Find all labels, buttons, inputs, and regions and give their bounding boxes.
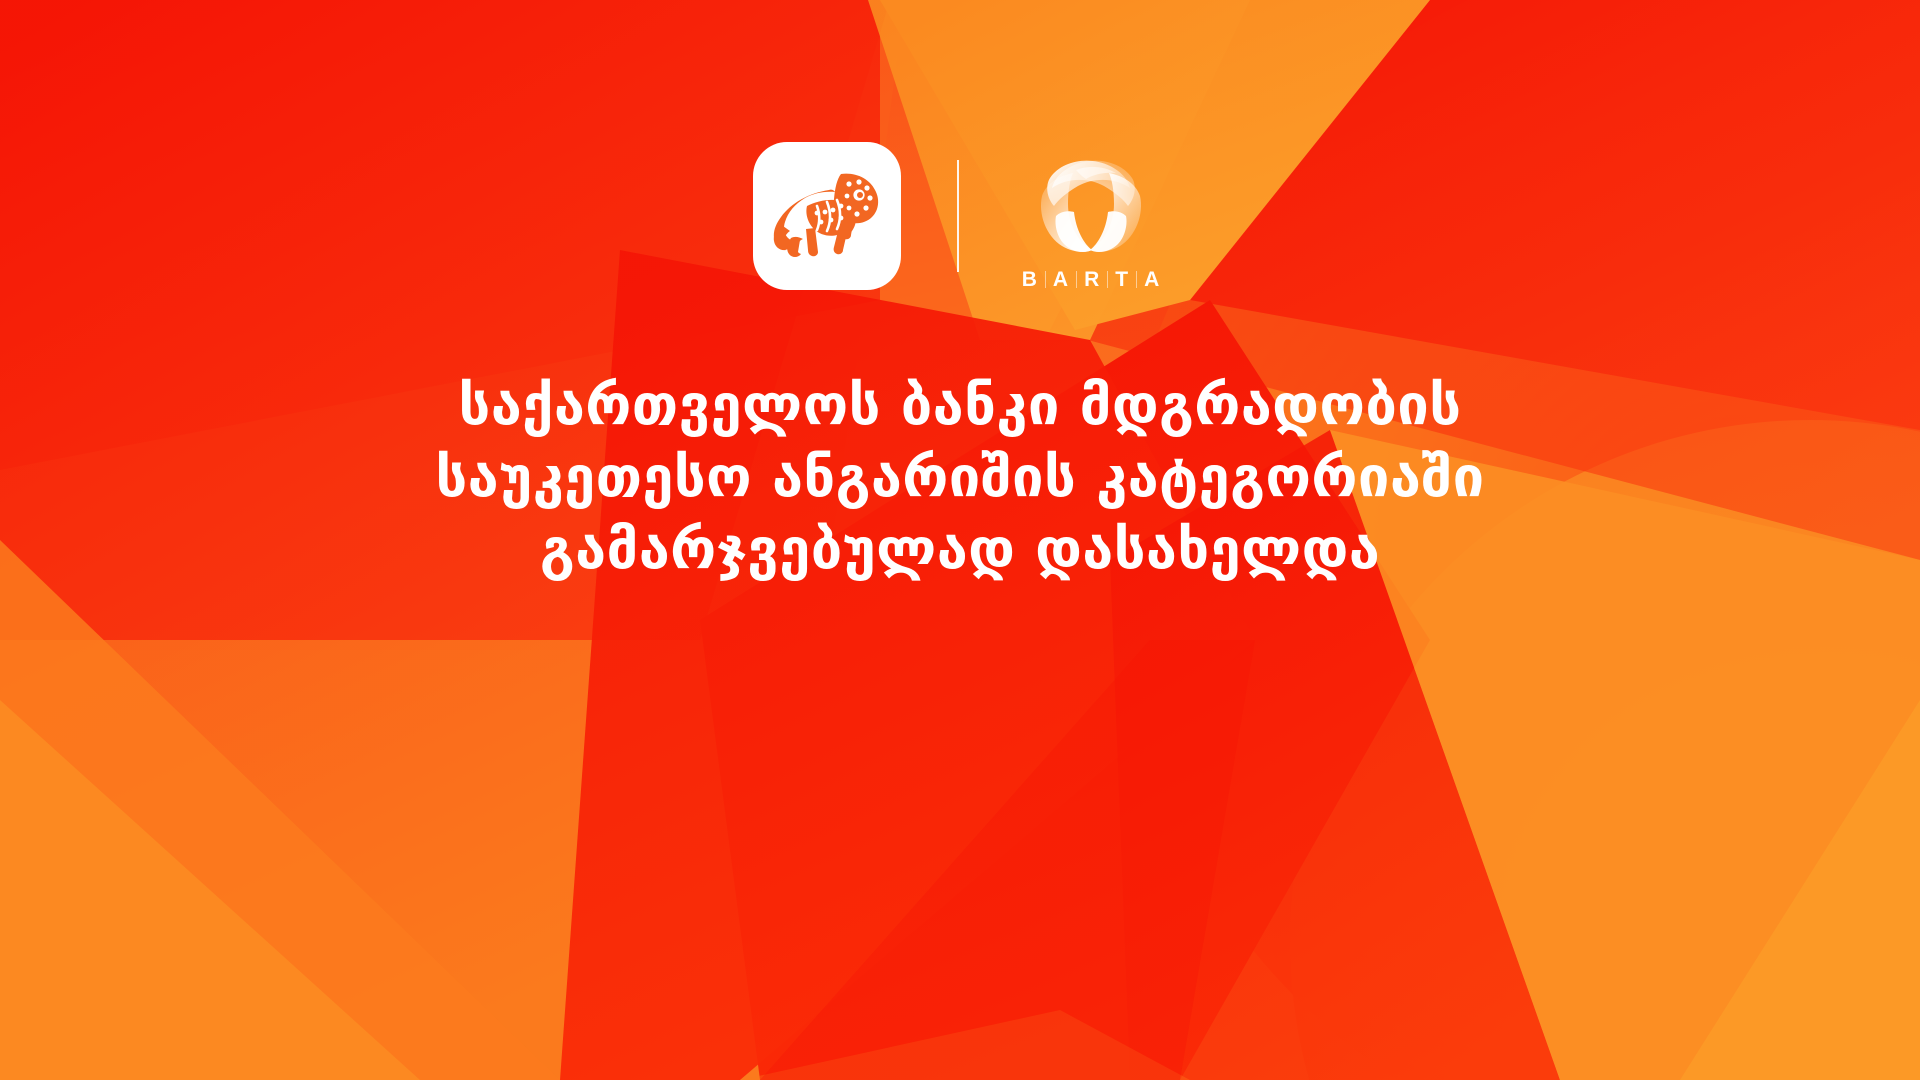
headline: საქართველოს ბანკი მდგრადობის საუკეთესო ა… [0, 370, 1920, 586]
barta-letter-3: R [1077, 269, 1107, 290]
barta-letter-2: A [1046, 269, 1076, 290]
barta-letter-1: B [1015, 269, 1045, 290]
bank-of-georgia-logo-tile [753, 142, 901, 290]
logo-lockup: B A R T A [0, 136, 1920, 296]
promo-banner: B A R T A საქართველოს ბანკი მდგრადობის ს… [0, 0, 1920, 1080]
barta-logo: B A R T A [1015, 142, 1168, 290]
barta-wordmark: B A R T A [1015, 269, 1168, 290]
lockup-divider-icon [957, 160, 959, 272]
headline-line-1: საქართველოს ბანკი მდგრადობის [90, 370, 1830, 442]
barta-letter-4: T [1108, 269, 1136, 290]
barta-petal-icon [1032, 142, 1150, 260]
bank-of-georgia-lion-icon [771, 166, 883, 266]
headline-line-2: საუკეთესო ანგარიშის კატეგორიაში [90, 442, 1830, 514]
headline-line-3: გამარჯვებულად დასახელდა [90, 514, 1830, 586]
barta-letter-5: A [1137, 269, 1167, 290]
